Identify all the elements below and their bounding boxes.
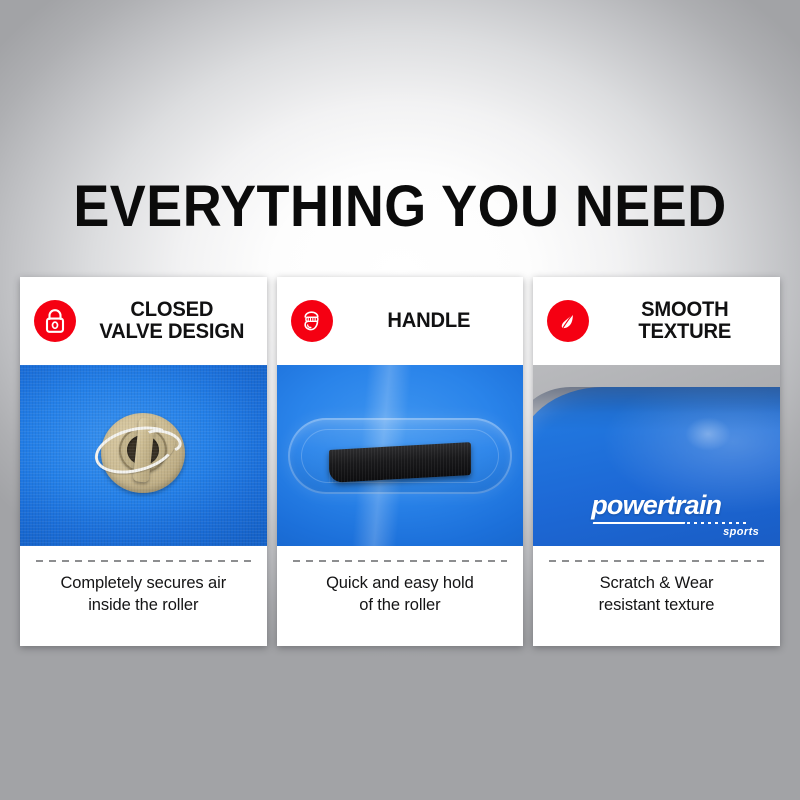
texture-closeup-photo: powertrain sports xyxy=(533,365,780,546)
dashed-divider xyxy=(549,560,764,562)
brand-wordmark: powertrain xyxy=(591,492,759,519)
card-header: CLOSED VALVE DESIGN xyxy=(20,277,267,365)
card-caption-line1: Quick and easy hold xyxy=(326,574,474,592)
card-caption: Scratch & Wear resistant texture xyxy=(599,573,715,617)
card-caption: Quick and easy hold of the roller xyxy=(326,573,474,617)
feature-card-closed-valve-design[interactable]: CLOSED VALVE DESIGN Completely secures xyxy=(20,277,267,646)
card-title: SMOOTH TEXTURE xyxy=(602,299,769,343)
roller-highlight xyxy=(685,417,731,451)
card-caption-area: Completely secures air inside the roller xyxy=(20,546,267,646)
page-title: EVERYTHING YOU NEED xyxy=(28,178,772,236)
card-title: HANDLE xyxy=(345,310,512,332)
card-header: SMOOTH TEXTURE xyxy=(533,277,780,365)
dashed-divider xyxy=(36,560,251,562)
card-header: HANDLE xyxy=(277,277,524,365)
card-caption-area: Scratch & Wear resistant texture xyxy=(533,546,780,646)
card-caption-line2: inside the roller xyxy=(60,595,226,617)
card-caption-line2: of the roller xyxy=(326,595,474,617)
product-feature-poster: EVERYTHING YOU NEED CLOSED VALVE DESIGN xyxy=(0,0,800,800)
card-caption-line2: resistant texture xyxy=(599,595,715,617)
card-caption-line1: Completely secures air xyxy=(60,574,226,592)
valve-assembly-graphic xyxy=(98,410,188,498)
brand-underline: sports xyxy=(591,520,759,528)
card-title-line1: HANDLE xyxy=(387,309,470,332)
card-caption-line1: Scratch & Wear xyxy=(600,574,714,592)
padlock-icon xyxy=(34,300,76,342)
feather-icon xyxy=(547,300,589,342)
card-caption-area: Quick and easy hold of the roller xyxy=(277,546,524,646)
brand-underline-solid xyxy=(593,522,685,524)
roller-top-shadow xyxy=(533,387,780,431)
feature-card-handle[interactable]: HANDLE Quick and easy hold of the roller xyxy=(277,277,524,646)
card-title-line2: VALVE DESIGN xyxy=(88,321,255,343)
valve-closeup-photo xyxy=(20,365,267,546)
card-title-line1: SMOOTH xyxy=(641,298,728,321)
handle-closeup-photo xyxy=(277,365,524,546)
feature-card-row: CLOSED VALVE DESIGN Completely secures xyxy=(20,277,780,646)
powertrain-sports-logo: powertrain sports xyxy=(591,492,759,528)
brand-subtext: sports xyxy=(723,526,759,538)
card-caption: Completely secures air inside the roller xyxy=(60,573,226,617)
feature-card-smooth-texture[interactable]: SMOOTH TEXTURE powertrain sports xyxy=(533,277,780,646)
dashed-divider xyxy=(293,560,508,562)
card-title-line1: CLOSED xyxy=(130,298,213,321)
brand-underline-dots xyxy=(687,522,749,524)
grip-hand-icon xyxy=(291,300,333,342)
card-title-line2: TEXTURE xyxy=(602,321,769,343)
card-title: CLOSED VALVE DESIGN xyxy=(88,299,255,343)
